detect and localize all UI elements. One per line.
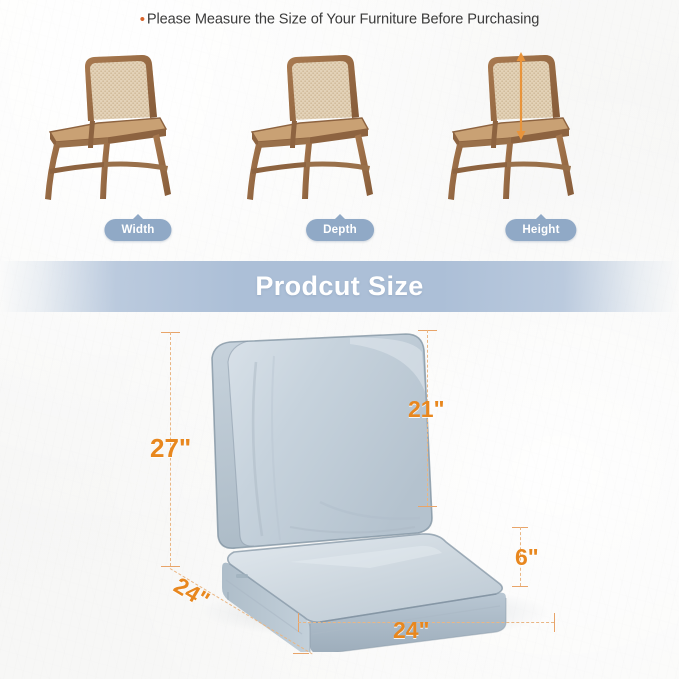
product-dimension-area: 6 Inches — [0, 312, 679, 679]
dimension-label-total-height: 27" — [150, 433, 191, 464]
dimension-label-back-height: 21" — [408, 396, 445, 423]
chair-illustration-depth — [240, 44, 440, 212]
tick-21-bottom — [418, 506, 437, 507]
tick-depth-end — [293, 653, 309, 654]
banner-title: Prodcut Size — [0, 261, 679, 312]
chair-card-height: Height — [441, 44, 641, 254]
product-size-banner: Prodcut Size — [0, 261, 679, 312]
chair-illustration-height — [441, 44, 641, 212]
chair-card-depth: Depth — [240, 44, 440, 254]
dimension-label-seat-thickness: 6" — [515, 544, 539, 571]
tick-6-bottom — [512, 586, 528, 587]
chair-label-height: Height — [505, 219, 576, 241]
tick-24-right — [554, 613, 555, 632]
chair-illustration-width — [38, 44, 238, 212]
bullet-icon: • — [140, 11, 145, 28]
headline-text: Please Measure the Size of Your Furnitur… — [147, 11, 539, 27]
chair-card-width: Width — [38, 44, 238, 254]
chair-label-depth: Depth — [306, 219, 374, 241]
infographic-page: •Please Measure the Size of Your Furnitu… — [0, 0, 679, 679]
page-headline: •Please Measure the Size of Your Furnitu… — [0, 11, 679, 28]
dimension-label-seat-width: 24" — [393, 617, 430, 644]
tick-depth-start — [161, 566, 180, 567]
chair-label-width: Width — [104, 219, 171, 241]
